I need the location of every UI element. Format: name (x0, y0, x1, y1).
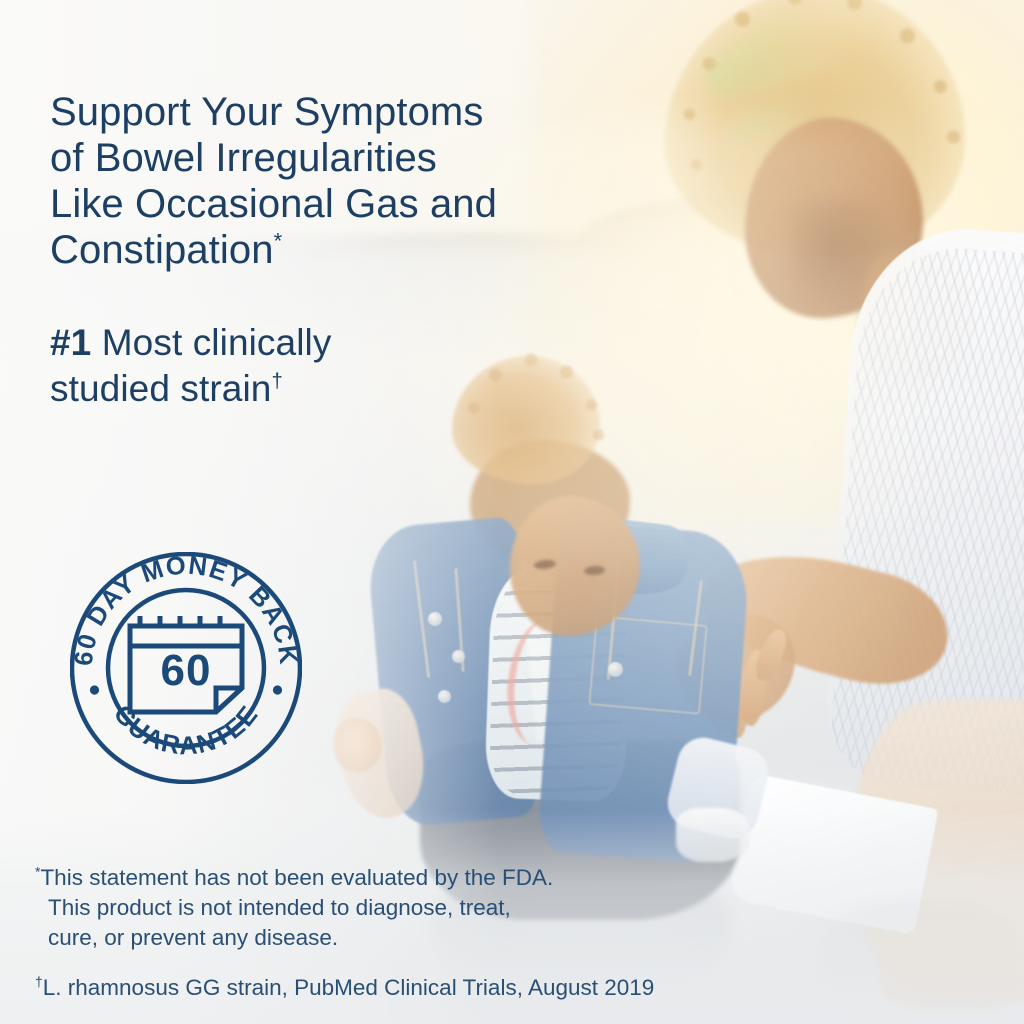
subhead-footnote-marker: † (271, 370, 282, 392)
footnote-marker: † (35, 973, 43, 989)
headline-line-2: of Bowel Irregularities (50, 136, 437, 180)
guarantee-seal-icon: 60 DAY MONEY BACK GUARANTEE 60 (70, 552, 302, 784)
disclaimer-line-3: cure, or prevent any disease. (35, 923, 595, 953)
page-title: Support Your Symptoms of Bowel Irregular… (50, 89, 650, 273)
rank-number: #1 (50, 322, 91, 363)
subhead-line-2: studied strain (50, 368, 271, 409)
headline-line-3: Like Occasional Gas and (50, 182, 497, 226)
footnote-text: L. rhamnosus GG strain, PubMed Clinical … (43, 975, 655, 1000)
fda-disclaimer: *This statement has not been evaluated b… (35, 863, 595, 953)
badge-dot-right (273, 685, 282, 694)
ad-copy-layer: Support Your Symptoms of Bowel Irregular… (0, 0, 1024, 1024)
advertisement-banner: Support Your Symptoms of Bowel Irregular… (0, 0, 1024, 1024)
badge-dot-left (90, 685, 99, 694)
disclaimer-line-1: This statement has not been evaluated by… (40, 865, 553, 890)
badge-calendar-number: 60 (161, 646, 212, 695)
headline-line-4: Constipation (50, 228, 274, 272)
money-back-guarantee-badge: 60 DAY MONEY BACK GUARANTEE 60 (70, 552, 302, 784)
subheading: #1 Most clinically studied strain† (50, 320, 520, 412)
headline-line-1: Support Your Symptoms (50, 90, 483, 134)
headline-footnote-marker: * (274, 228, 283, 253)
subhead-line-1: Most clinically (91, 322, 331, 363)
disclaimer-line-2: This product is not intended to diagnose… (35, 893, 595, 923)
strain-citation-footnote: †L. rhamnosus GG strain, PubMed Clinical… (35, 973, 855, 1003)
